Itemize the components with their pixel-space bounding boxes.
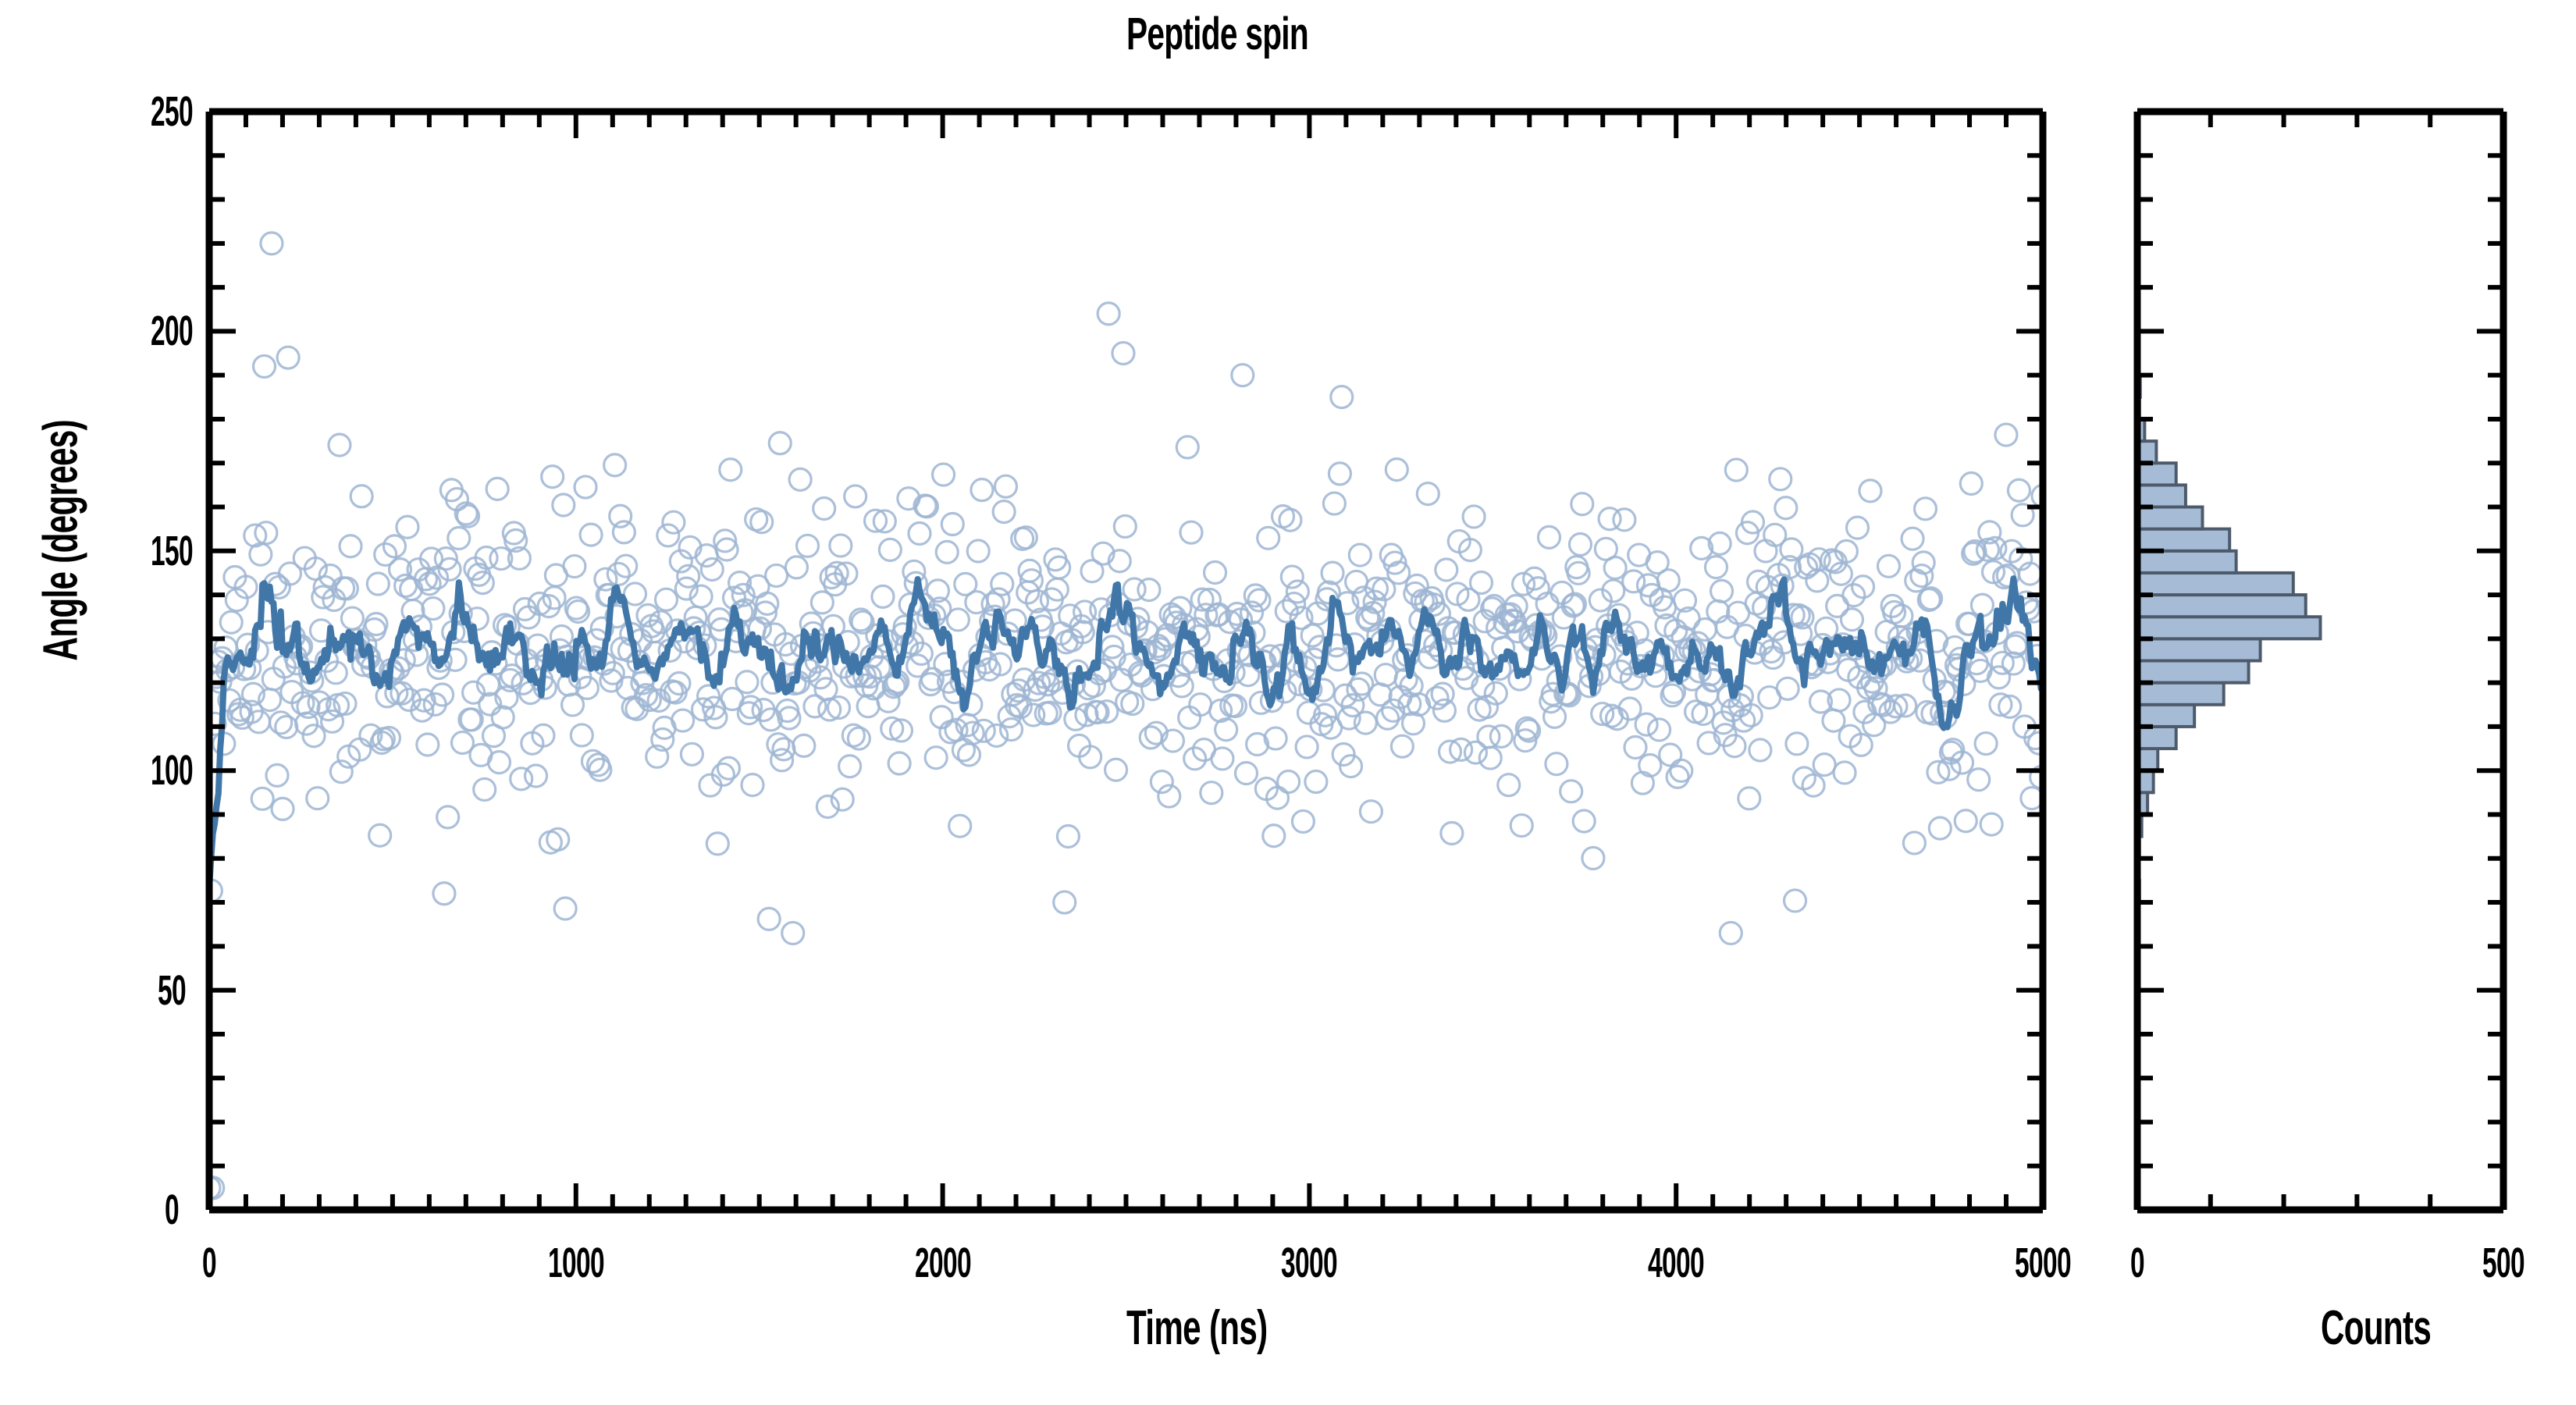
scatter-point xyxy=(1660,744,1681,766)
scatter-point xyxy=(1569,533,1591,555)
histogram-bar xyxy=(2137,463,2176,485)
scatter-point xyxy=(369,824,391,846)
scatter-point xyxy=(797,535,819,557)
scatter-point xyxy=(1841,609,1863,631)
scatter-point xyxy=(277,347,299,368)
scatter-point xyxy=(993,501,1015,523)
scatter-point xyxy=(1902,528,1923,550)
scatter-point xyxy=(1738,788,1760,809)
scatter-point xyxy=(1054,891,1076,913)
scatter-point xyxy=(1236,763,1258,784)
scatter-point xyxy=(1988,667,2010,688)
scatter-point xyxy=(1322,562,1343,584)
scatter-point xyxy=(1975,733,1997,755)
scatter-point xyxy=(1296,736,1318,758)
scatter-point xyxy=(489,752,511,774)
scatter-point xyxy=(1323,493,1345,514)
histogram-bar xyxy=(2137,573,2293,595)
scatter-point xyxy=(1464,742,1486,763)
scatter-point xyxy=(769,432,791,454)
scatter-point xyxy=(437,806,459,828)
scatter-point xyxy=(971,479,993,501)
tick-label: 250 xyxy=(151,87,193,136)
scatter-point xyxy=(547,828,569,850)
scatter-point xyxy=(397,516,418,538)
tick-label: 1000 xyxy=(548,1239,604,1287)
scatter-point xyxy=(1184,748,1206,770)
scatter-point xyxy=(2008,479,2030,501)
scatter-point xyxy=(1212,748,1233,770)
scatter-point xyxy=(575,476,596,498)
scatter-point xyxy=(941,514,963,535)
scatter-point xyxy=(1903,832,1925,854)
histogram-bar xyxy=(2137,661,2249,683)
scatter-point xyxy=(1232,365,1254,386)
scatter-point xyxy=(1098,303,1119,325)
scatter-point xyxy=(1331,386,1353,408)
scatter-point xyxy=(525,765,547,787)
scatter-point xyxy=(251,788,273,809)
scatter-point xyxy=(1105,759,1127,781)
tick-label: 200 xyxy=(151,307,193,355)
scatter-point xyxy=(830,535,852,557)
scatter-point xyxy=(564,556,585,578)
scatter-point xyxy=(1852,576,1874,598)
scatter-point xyxy=(1377,707,1399,729)
scatter-point xyxy=(1248,589,1270,611)
tick-label: 100 xyxy=(151,746,193,795)
scatter-point xyxy=(1490,725,1512,747)
scatter-point xyxy=(272,798,294,820)
scatter-point xyxy=(1470,572,1492,594)
scatter-point xyxy=(925,747,947,769)
scatter-point xyxy=(307,788,329,809)
scatter-point xyxy=(1971,594,1993,616)
scatter-point xyxy=(1775,497,1797,519)
scatter-point xyxy=(958,744,980,766)
scatter-point xyxy=(720,459,742,481)
scatter-point xyxy=(949,815,971,837)
scatter-point xyxy=(1417,483,1439,505)
scatter-point xyxy=(663,511,685,533)
scatter-point xyxy=(782,922,804,944)
scatter-point xyxy=(952,739,974,761)
scatter-point xyxy=(518,606,539,628)
scatter-point xyxy=(1001,719,1023,741)
scatter-point xyxy=(1560,781,1582,802)
scatter-point xyxy=(947,609,969,631)
figure-canvas: Peptide spin Time (ns) Angle (degrees) C… xyxy=(0,0,2576,1405)
scatter-point xyxy=(340,535,361,557)
scatter-point xyxy=(1375,664,1397,686)
scatter-point xyxy=(220,611,242,633)
scatter-point xyxy=(701,558,723,580)
tick-label: 500 xyxy=(2482,1239,2524,1287)
scatter-point xyxy=(909,523,930,545)
scatter-point xyxy=(553,494,575,516)
scatter-point xyxy=(1843,585,1865,606)
scatter-point xyxy=(329,434,350,456)
scatter-point xyxy=(1478,726,1500,748)
scatter-point xyxy=(994,475,1016,497)
scatter-point xyxy=(1639,754,1661,776)
scatter-point xyxy=(789,468,811,490)
scatter-point xyxy=(1265,727,1286,749)
scatter-point xyxy=(303,725,325,747)
scatter-point xyxy=(422,598,444,620)
scatter-point xyxy=(1292,810,1314,832)
tick-label: 150 xyxy=(151,527,193,575)
scatter-point xyxy=(461,709,482,731)
scatter-point xyxy=(261,233,283,254)
scatter-point xyxy=(991,573,1013,595)
scatter-point xyxy=(367,573,389,595)
scatter-point xyxy=(1391,735,1413,757)
scatter-point xyxy=(1711,580,1733,602)
scatter-point xyxy=(1279,509,1301,531)
histogram-bar xyxy=(2137,638,2261,660)
scatter-point xyxy=(448,528,470,550)
tick-label: 4000 xyxy=(1648,1239,1704,1287)
scatter-point xyxy=(1140,727,1162,749)
scatter-point xyxy=(1692,702,1714,724)
scatter-point xyxy=(967,540,989,562)
scatter-points-group xyxy=(198,233,2054,1199)
scatter-point xyxy=(888,752,910,774)
scatter-point xyxy=(1551,582,1573,603)
scatter-point xyxy=(1360,801,1382,823)
tick-label: 0 xyxy=(202,1239,216,1287)
scatter-point xyxy=(839,756,861,777)
scatter-point xyxy=(604,454,626,476)
scatter-point xyxy=(672,710,694,731)
scatter-point xyxy=(1827,595,1848,617)
scatter-point xyxy=(1859,480,1881,502)
scatter-point xyxy=(580,524,602,546)
scatter-point xyxy=(341,607,363,629)
scatter-point xyxy=(554,898,576,919)
scatter-point xyxy=(793,735,815,756)
scatter-point xyxy=(266,764,288,786)
scatter-point xyxy=(1960,473,1982,495)
scatter-point xyxy=(511,768,532,790)
scatter-point xyxy=(1784,890,1806,912)
scatter-point xyxy=(872,585,894,607)
scatter-point xyxy=(250,543,272,565)
scatter-point xyxy=(1498,774,1520,796)
histogram-bar xyxy=(2137,727,2176,749)
scatter-point xyxy=(1915,498,1937,520)
scatter-point xyxy=(986,724,1008,746)
scatter-point xyxy=(1604,557,1626,579)
scatter-point xyxy=(717,757,739,779)
scatter-point xyxy=(1770,468,1791,490)
scatter-point xyxy=(1968,769,1990,791)
histogram-bar xyxy=(2137,683,2224,705)
scatter-point xyxy=(1624,736,1646,758)
scatter-point xyxy=(1436,559,1457,581)
scatter-point xyxy=(1929,817,1951,839)
scatter-point xyxy=(1057,825,1079,847)
scatter-point xyxy=(433,883,455,905)
scatter-point xyxy=(1635,713,1657,735)
scatter-point xyxy=(879,539,901,560)
scatter-point xyxy=(613,521,635,543)
scatter-point xyxy=(2028,732,2050,754)
scatter-point xyxy=(1813,754,1835,776)
histogram-bar xyxy=(2137,705,2194,727)
scatter-point xyxy=(1281,566,1303,588)
scatter-point xyxy=(1329,463,1350,485)
plot-svg xyxy=(0,0,2576,1405)
scatter-point xyxy=(1623,571,1645,592)
scatter-point xyxy=(1179,706,1201,728)
scatter-point xyxy=(706,833,728,855)
scatter-point xyxy=(1538,526,1560,548)
scatter-point xyxy=(1204,561,1226,583)
scatter-point xyxy=(1138,579,1160,601)
scatter-point xyxy=(474,778,496,800)
scatter-point xyxy=(1215,719,1237,741)
scatter-point xyxy=(1582,847,1604,869)
tick-label: 5000 xyxy=(2015,1239,2071,1287)
histogram-bar xyxy=(2137,595,2306,617)
scatter-point xyxy=(1786,733,1808,755)
histogram-bars-group xyxy=(2137,244,2321,946)
scatter-point xyxy=(1755,540,1777,562)
scatter-point xyxy=(254,355,276,377)
scatter-point xyxy=(1777,678,1799,699)
scatter-point xyxy=(417,734,439,756)
scatter-point xyxy=(936,541,958,563)
scatter-point xyxy=(492,706,514,728)
scatter-point xyxy=(1180,521,1202,543)
scatter-point xyxy=(276,716,297,738)
scatter-point xyxy=(1349,544,1371,566)
scatter-point xyxy=(742,774,763,796)
scatter-point xyxy=(1048,557,1070,578)
scatter-point xyxy=(1571,493,1593,515)
scatter-point xyxy=(1657,570,1679,592)
scatter-point xyxy=(1258,527,1279,549)
scatter-point xyxy=(916,496,938,518)
tick-label: 3000 xyxy=(1281,1239,1337,1287)
scatter-point xyxy=(1201,782,1222,804)
scatter-point xyxy=(610,505,632,527)
scatter-point xyxy=(1305,770,1327,792)
scatter-point xyxy=(270,712,292,734)
scatter-point xyxy=(1463,506,1485,528)
tick-label: 50 xyxy=(158,966,186,1015)
scatter-point xyxy=(1614,509,1635,531)
scatter-point xyxy=(1995,424,2017,446)
tick-label: 0 xyxy=(165,1186,179,1234)
scatter-point xyxy=(1176,436,1198,458)
scatter-point xyxy=(785,557,807,578)
scatter-point xyxy=(1386,459,1407,481)
scatter-point xyxy=(1955,810,1976,832)
scatter-point xyxy=(933,464,955,486)
scatter-point xyxy=(1546,753,1567,775)
scatter-point xyxy=(1834,762,1856,784)
scatter-point xyxy=(657,525,679,546)
histogram-bar xyxy=(2137,617,2321,638)
scatter-point xyxy=(1705,557,1727,578)
scatter-point xyxy=(383,535,405,557)
scatter-point xyxy=(1573,810,1595,832)
scatter-point xyxy=(736,671,758,693)
scatter-point xyxy=(1544,706,1566,727)
scatter-point xyxy=(1433,699,1455,721)
scatter-point xyxy=(486,478,508,500)
histogram-bar xyxy=(2137,507,2202,529)
scatter-point xyxy=(681,743,703,765)
scatter-point xyxy=(813,497,835,519)
scatter-point xyxy=(1278,770,1300,792)
scatter-point xyxy=(1479,747,1501,769)
scatter-point xyxy=(758,908,780,930)
scatter-point xyxy=(1263,825,1285,847)
scatter-point xyxy=(571,724,592,746)
scatter-point xyxy=(1920,588,1942,610)
scatter-point xyxy=(1847,517,1869,539)
scatter-point xyxy=(1510,815,1532,837)
scatter-point xyxy=(1649,719,1670,741)
scatter-point xyxy=(655,589,677,610)
scatter-point xyxy=(1114,515,1136,537)
scatter-point xyxy=(1725,459,1747,481)
scatter-point xyxy=(766,564,788,586)
scatter-point xyxy=(1670,759,1692,781)
histogram-bar xyxy=(2137,529,2229,551)
scatter-point xyxy=(845,486,866,507)
tick-label: 2000 xyxy=(915,1239,971,1287)
scatter-point xyxy=(1720,922,1742,944)
scatter-point xyxy=(1190,694,1212,716)
scatter-point xyxy=(1286,581,1308,603)
scatter-point xyxy=(1112,343,1134,365)
scatter-point xyxy=(1912,552,1934,574)
histogram-bar xyxy=(2137,551,2236,573)
scatter-point xyxy=(542,466,564,488)
scatter-point xyxy=(350,486,372,507)
scatter-point xyxy=(1877,555,1899,577)
scatter-point xyxy=(767,734,789,756)
scatter-point xyxy=(1749,739,1771,761)
tick-label: 0 xyxy=(2130,1239,2144,1287)
histogram-bar xyxy=(2137,485,2186,507)
scatter-point xyxy=(1564,593,1585,615)
scatter-point xyxy=(1980,813,2002,835)
scatter-point xyxy=(1441,823,1463,845)
